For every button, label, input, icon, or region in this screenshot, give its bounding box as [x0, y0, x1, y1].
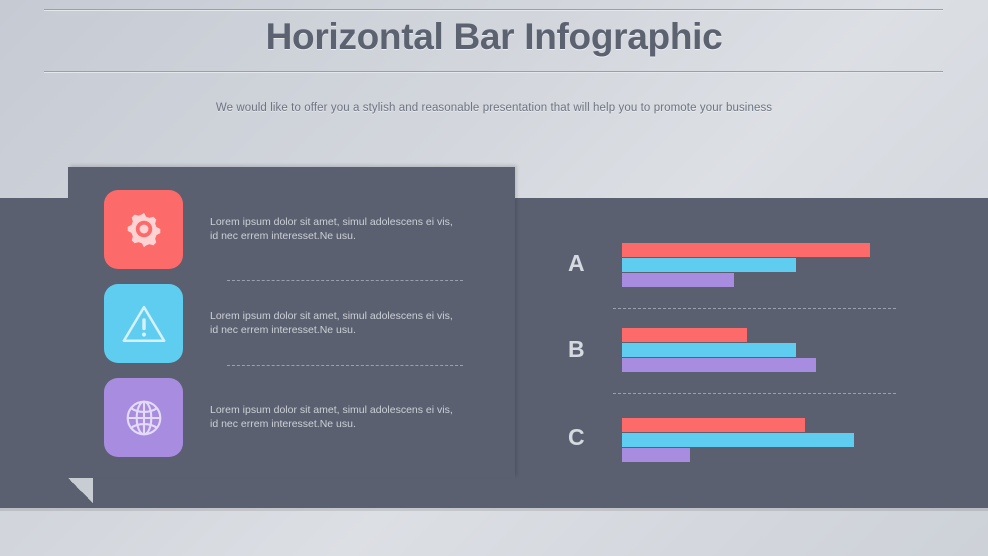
page-title: Horizontal Bar Infographic	[0, 16, 988, 58]
feature-row-2[interactable]: Lorem ipsum dolor sit amet, simul adoles…	[104, 284, 462, 363]
page-subtitle: We would like to offer you a stylish and…	[0, 102, 988, 114]
title-rule-top	[44, 9, 943, 11]
bar-c-series-1[interactable]	[622, 418, 805, 432]
feature-divider-2	[227, 365, 463, 366]
chart-divider-1	[613, 308, 896, 309]
feature-row-1[interactable]: Lorem ipsum dolor sit amet, simul adoles…	[104, 190, 462, 269]
chart-category-label-b: B	[568, 336, 585, 363]
panel-fold-dark	[68, 478, 93, 503]
bar-a-series-2[interactable]	[622, 258, 796, 272]
title-rule-bottom	[44, 71, 943, 73]
bar-c-series-2[interactable]	[622, 433, 854, 447]
chart-category-label-a: A	[568, 250, 585, 277]
bar-c-series-3[interactable]	[622, 448, 690, 462]
feature-text-1: Lorem ipsum dolor sit amet, simul adoles…	[210, 216, 462, 244]
gear-icon	[104, 190, 183, 269]
slide-canvas: Horizontal Bar Infographic We would like…	[0, 0, 988, 556]
feature-row-3[interactable]: Lorem ipsum dolor sit amet, simul adoles…	[104, 378, 462, 457]
bar-b-series-3[interactable]	[622, 358, 816, 372]
feature-text-3: Lorem ipsum dolor sit amet, simul adoles…	[210, 404, 462, 432]
bar-a-series-3[interactable]	[622, 273, 734, 287]
chart-divider-2	[613, 393, 896, 394]
globe-icon	[104, 378, 183, 457]
bar-a-series-1[interactable]	[622, 243, 870, 257]
bar-b-series-2[interactable]	[622, 343, 796, 357]
warning-triangle-icon	[104, 284, 183, 363]
feature-text-2: Lorem ipsum dolor sit amet, simul adoles…	[210, 310, 462, 338]
bar-b-series-1[interactable]	[622, 328, 747, 342]
chart-category-label-c: C	[568, 424, 585, 451]
feature-divider-1	[227, 280, 463, 281]
